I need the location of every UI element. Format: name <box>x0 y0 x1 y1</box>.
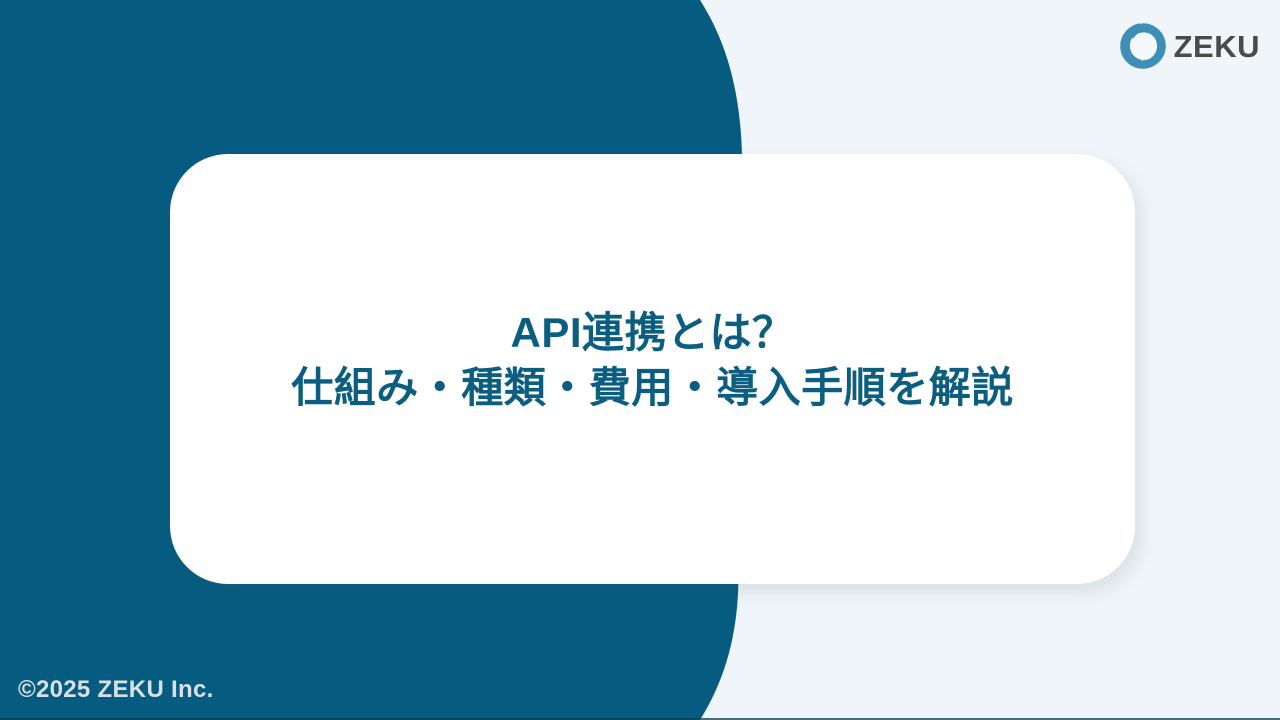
slide-title-line-2: 仕組み・種類・費用・導入手順を解説 <box>194 360 1111 415</box>
slide-canvas: ZEKU API連携とは？ 仕組み・種類・費用・導入手順を解説 ©2025 ZE… <box>0 0 1280 720</box>
enso-brush-circle-icon <box>1120 23 1166 69</box>
slide-title-line-1: API連携とは？ <box>194 305 1111 360</box>
brand-logo: ZEKU <box>1120 22 1260 70</box>
brand-wordmark: ZEKU <box>1174 31 1260 62</box>
copyright-footer: ©2025 ZEKU Inc. <box>18 678 214 702</box>
title-card: API連携とは？ 仕組み・種類・費用・導入手順を解説 <box>170 154 1135 584</box>
title-block: API連携とは？ 仕組み・種類・費用・導入手順を解説 <box>170 305 1135 416</box>
